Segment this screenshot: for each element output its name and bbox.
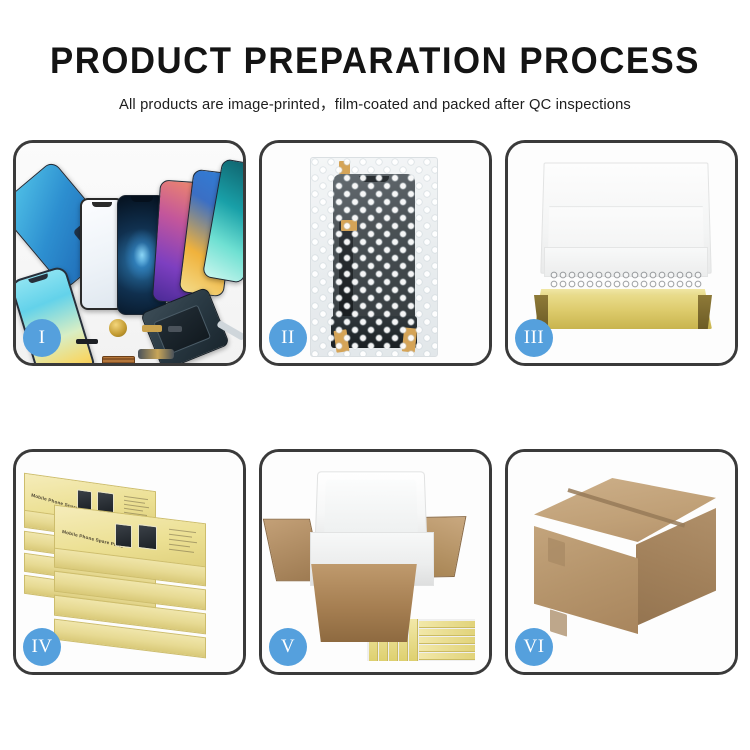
step-badge-5: V (269, 628, 307, 666)
yellow-inner-box-icon (419, 645, 475, 652)
step-badge-3: III (515, 319, 553, 357)
box-print-screen-thumb (138, 524, 157, 550)
carton-body-icon (304, 564, 424, 642)
component-battery-connector-icon (76, 339, 98, 344)
process-step-panel-2[interactable]: II (259, 140, 492, 366)
process-step-grid: I II (13, 140, 739, 675)
yellow-inner-box-icon (419, 637, 475, 644)
yellow-inner-box-icon (419, 653, 475, 660)
process-step-panel-6[interactable]: VI (505, 449, 738, 675)
box-print-screen-thumb (115, 523, 132, 548)
page-subtitle: All products are image-printed，film-coat… (11, 79, 739, 114)
yellow-inner-box-icon (534, 295, 712, 329)
step-badge-6: VI (515, 628, 553, 666)
carton-tape-icon (550, 609, 567, 637)
process-step-panel-5[interactable]: V (259, 449, 492, 675)
bubble-film-texture (311, 158, 437, 356)
step-badge-1: I (23, 319, 61, 357)
process-step-panel-1[interactable]: I (13, 140, 246, 366)
yellow-inner-box-icon (419, 621, 475, 628)
step-badge-2: II (269, 319, 307, 357)
carton-tape-icon (548, 537, 565, 567)
header: PRODUCT PREPARATION PROCESS All products… (0, 0, 750, 114)
process-step-panel-3[interactable]: III (505, 140, 738, 366)
component-gold-contact-icon (142, 325, 162, 332)
page-title: PRODUCT PREPARATION PROCESS (23, 0, 728, 79)
process-step-panel-4[interactable]: Mobile Phone Spare Parts Mobile Phone Sp… (13, 449, 246, 675)
product-preparation-infographic: PRODUCT PREPARATION PROCESS All products… (0, 0, 750, 750)
yellow-inner-box-icon (419, 629, 475, 636)
yellow-inner-box-icon (409, 619, 418, 661)
step-badge-4: IV (23, 628, 61, 666)
component-logic-board-icon (102, 356, 135, 363)
component-ribbon-cable-icon (138, 349, 174, 359)
bubble-wrap-package-icon (310, 157, 438, 357)
component-coil-icon (109, 319, 127, 337)
component-small-chip-icon (168, 326, 182, 332)
